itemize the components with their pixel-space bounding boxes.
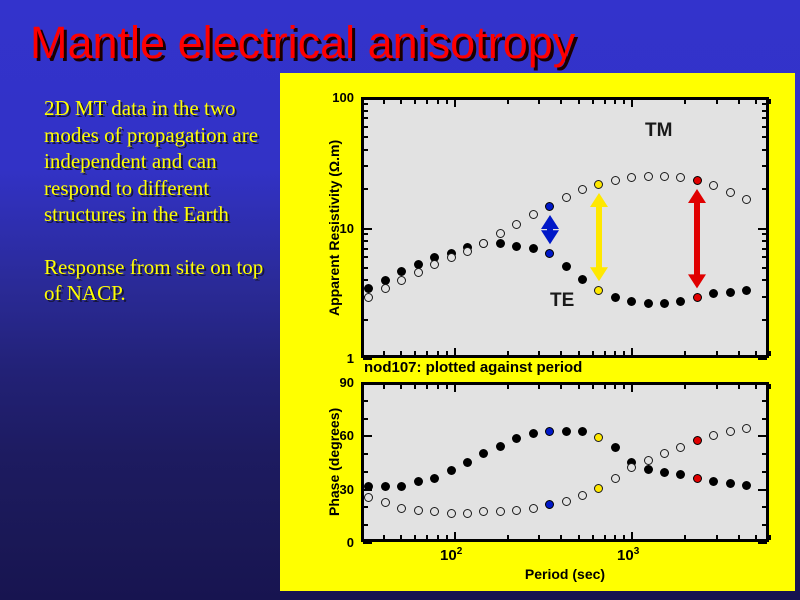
x-tick: [560, 351, 562, 356]
y-tick: [758, 228, 767, 230]
x-tick: [631, 99, 633, 107]
x-tick: [614, 351, 616, 356]
data-point-tm: [479, 239, 488, 248]
x-tick: [507, 351, 509, 356]
mode-label-tm: TM: [645, 120, 672, 142]
y-tick: [363, 256, 368, 258]
x-tick: [400, 351, 402, 356]
data-point-tm: [594, 180, 603, 189]
y-tick: [363, 279, 368, 281]
x-tick: [684, 99, 686, 104]
x-tick: [383, 99, 385, 104]
data-point-tm: [693, 176, 702, 185]
y-tick: [758, 382, 767, 384]
y-tick-label: 100: [314, 90, 354, 105]
y-tick: [762, 126, 767, 128]
data-point-tm: [529, 504, 538, 513]
y-tick: [762, 279, 767, 281]
x-tick: [414, 384, 416, 389]
y-tick: [363, 248, 368, 250]
x-tick: [538, 351, 540, 356]
y-tick: [762, 400, 767, 402]
x-tick: [738, 384, 740, 389]
y-tick: [363, 524, 368, 526]
x-tick: [738, 99, 740, 104]
x-tick: [383, 384, 385, 389]
data-point-tm: [742, 195, 751, 204]
data-point-te: [742, 481, 751, 490]
mode-label-te: TE: [550, 290, 574, 312]
x-tick: [604, 384, 606, 389]
x-tick: [614, 99, 616, 104]
slide-title: Mantle electrical anisotropy: [30, 18, 690, 68]
y-tick-label: 90: [314, 375, 354, 390]
x-tick: [538, 384, 540, 389]
x-tick: [507, 535, 509, 540]
x-tick-label: 102: [440, 546, 462, 564]
x-tick: [383, 351, 385, 356]
data-point-te: [742, 286, 751, 295]
x-tick: [631, 532, 633, 540]
y-tick: [762, 471, 767, 473]
x-tick: [446, 384, 448, 389]
data-point-te: [430, 474, 439, 483]
y-tick: [758, 489, 767, 491]
x-tick: [560, 384, 562, 389]
y-tick: [363, 267, 368, 269]
x-tick: [769, 351, 771, 356]
x-tick: [769, 535, 771, 540]
y-tick: [762, 267, 767, 269]
data-point-te: [726, 479, 735, 488]
x-tick: [631, 384, 633, 392]
y-tick-label: 30: [314, 482, 354, 497]
data-point-tm: [496, 229, 505, 238]
x-tick: [578, 535, 580, 540]
y-tick: [762, 149, 767, 151]
x-tick: [578, 99, 580, 104]
x-tick: [738, 535, 740, 540]
x-tick: [454, 348, 456, 356]
data-point-te: [726, 288, 735, 297]
data-point-tm: [364, 293, 373, 302]
y-tick: [363, 110, 368, 112]
y-tick: [762, 524, 767, 526]
data-point-te: [463, 458, 472, 467]
y-tick: [363, 435, 372, 437]
data-point-tm: [611, 176, 620, 185]
double-arrow-blue: [539, 215, 561, 244]
y-tick: [363, 358, 372, 360]
data-point-te: [578, 275, 587, 284]
double-arrow-yellow: [588, 193, 610, 281]
x-tick: [623, 99, 625, 104]
x-tick: [604, 351, 606, 356]
data-point-te: [644, 465, 653, 474]
data-point-te: [562, 427, 571, 436]
x-tick: [578, 384, 580, 389]
x-tick: [755, 535, 757, 540]
x-tick: [623, 384, 625, 389]
data-point-tm: [726, 427, 735, 436]
y-tick-label: 10: [314, 221, 354, 236]
y-tick: [363, 506, 368, 508]
figure-subtitle: nod107: plotted against period: [364, 359, 582, 376]
x-tick: [426, 535, 428, 540]
phase-plot: [361, 382, 769, 542]
x-tick: [414, 535, 416, 540]
x-tick: [592, 535, 594, 540]
x-tick: [437, 99, 439, 104]
x-tick: [755, 99, 757, 104]
data-point-tm: [693, 436, 702, 445]
x-tick: [361, 351, 363, 356]
data-point-tm: [496, 507, 505, 516]
x-tick: [400, 99, 402, 104]
data-point-tm: [414, 506, 423, 515]
x-tick: [446, 535, 448, 540]
x-tick: [738, 351, 740, 356]
y-tick: [363, 471, 368, 473]
y-tick: [762, 319, 767, 321]
x-tick: [604, 99, 606, 104]
y-tick: [363, 97, 372, 99]
y-tick: [363, 418, 368, 420]
x-tick: [560, 535, 562, 540]
data-point-tm: [447, 509, 456, 518]
y-tick: [363, 103, 368, 105]
y-tick: [758, 542, 767, 544]
x-tick: [414, 99, 416, 104]
x-tick: [538, 99, 540, 104]
data-point-te: [611, 293, 620, 302]
data-point-tm: [414, 268, 423, 277]
data-point-te: [529, 429, 538, 438]
y-tick: [363, 165, 368, 167]
body-paragraph-2: Response from site on top of NACP.: [44, 254, 279, 307]
data-point-te: [611, 443, 620, 452]
x-tick: [507, 99, 509, 104]
x-tick: [454, 532, 456, 540]
x-tick: [592, 351, 594, 356]
y-tick-label: 0: [314, 535, 354, 550]
x-tick: [716, 351, 718, 356]
slide-body-text: 2D MT data in the two modes of propagati…: [44, 95, 279, 307]
y-tick: [363, 382, 372, 384]
data-point-te: [562, 262, 571, 271]
y-tick: [363, 126, 368, 128]
y-tick: [762, 136, 767, 138]
y-tick: [363, 319, 368, 321]
data-point-tm: [742, 424, 751, 433]
data-point-te: [496, 442, 505, 451]
x-tick: [383, 535, 385, 540]
y-tick: [363, 149, 368, 151]
y-tick: [363, 453, 368, 455]
x-tick: [426, 351, 428, 356]
data-point-tm: [627, 463, 636, 472]
x-tick: [437, 351, 439, 356]
data-point-te: [479, 449, 488, 458]
slide-canvas: Mantle electrical anisotropy 2D MT data …: [0, 0, 800, 600]
x-tick: [446, 99, 448, 104]
x-tick: [361, 384, 363, 389]
y-tick: [762, 453, 767, 455]
x-tick: [426, 384, 428, 389]
data-point-tm: [660, 449, 669, 458]
y-tick: [363, 542, 372, 544]
data-point-tm: [562, 193, 571, 202]
x-tick: [507, 384, 509, 389]
y-tick: [363, 117, 368, 119]
x-tick: [755, 384, 757, 389]
x-tick: [769, 99, 771, 104]
data-point-tm: [463, 247, 472, 256]
data-point-tm: [364, 493, 373, 502]
x-tick: [604, 535, 606, 540]
y-tick: [363, 233, 368, 235]
x-tick: [454, 99, 456, 107]
data-point-tm: [381, 498, 390, 507]
data-point-tm: [512, 506, 521, 515]
y-tick: [762, 188, 767, 190]
x-tick: [684, 384, 686, 389]
data-point-te: [364, 284, 373, 293]
y-tick: [758, 435, 767, 437]
x-tick: [414, 351, 416, 356]
data-point-te: [529, 244, 538, 253]
x-tick: [623, 535, 625, 540]
y-tick: [762, 506, 767, 508]
x-tick: [361, 535, 363, 540]
data-point-tm: [644, 172, 653, 181]
data-point-te: [414, 477, 423, 486]
data-point-tm: [611, 474, 620, 483]
y-tick-label: 1: [314, 351, 354, 366]
data-point-te: [496, 239, 505, 248]
data-point-tm: [578, 185, 587, 194]
y-tick: [762, 103, 767, 105]
x-tick: [400, 535, 402, 540]
x-tick: [592, 99, 594, 104]
x-tick: [716, 384, 718, 389]
data-point-te: [512, 242, 521, 251]
x-tick: [538, 535, 540, 540]
x-tick: [400, 384, 402, 389]
data-point-te: [381, 482, 390, 491]
x-tick: [631, 348, 633, 356]
data-point-tm: [644, 456, 653, 465]
x-tick: [592, 384, 594, 389]
x-tick: [623, 351, 625, 356]
y-tick: [762, 233, 767, 235]
y-tick: [363, 228, 372, 230]
y-tick: [762, 117, 767, 119]
x-tick: [437, 535, 439, 540]
body-paragraph-1: 2D MT data in the two modes of propagati…: [44, 96, 258, 226]
x-tick: [614, 384, 616, 389]
data-point-tm: [447, 253, 456, 262]
y-tick: [758, 97, 767, 99]
x-tick: [578, 351, 580, 356]
y-tick: [762, 240, 767, 242]
x-tick: [769, 384, 771, 389]
x-tick-label: 103: [617, 546, 639, 564]
double-arrow-red: [686, 189, 708, 288]
data-point-te: [693, 474, 702, 483]
y-tick: [762, 296, 767, 298]
data-point-tm: [562, 497, 571, 506]
x-tick: [614, 535, 616, 540]
y-tick: [762, 110, 767, 112]
y-tick: [762, 165, 767, 167]
x-tick: [684, 351, 686, 356]
x-tick: [560, 99, 562, 104]
data-point-te: [693, 293, 702, 302]
y-tick: [762, 248, 767, 250]
y-tick: [762, 418, 767, 420]
x-tick: [446, 351, 448, 356]
y-tick: [363, 136, 368, 138]
x-tick: [437, 384, 439, 389]
y-tick-label: 60: [314, 428, 354, 443]
y-tick: [758, 358, 767, 360]
data-point-tm: [512, 220, 521, 229]
x-tick: [426, 99, 428, 104]
data-point-te: [594, 433, 603, 442]
y-tick: [363, 400, 368, 402]
x-tick: [454, 384, 456, 392]
phase-axis-label: Phase (degrees): [326, 408, 342, 516]
y-tick: [762, 256, 767, 258]
data-point-te: [644, 299, 653, 308]
x-tick: [755, 351, 757, 356]
data-point-tm: [726, 188, 735, 197]
y-tick: [363, 188, 368, 190]
x-tick: [684, 535, 686, 540]
y-tick: [363, 240, 368, 242]
x-axis-title: Period (sec): [361, 566, 769, 582]
x-tick: [716, 535, 718, 540]
data-point-tm: [381, 284, 390, 293]
x-tick: [716, 99, 718, 104]
